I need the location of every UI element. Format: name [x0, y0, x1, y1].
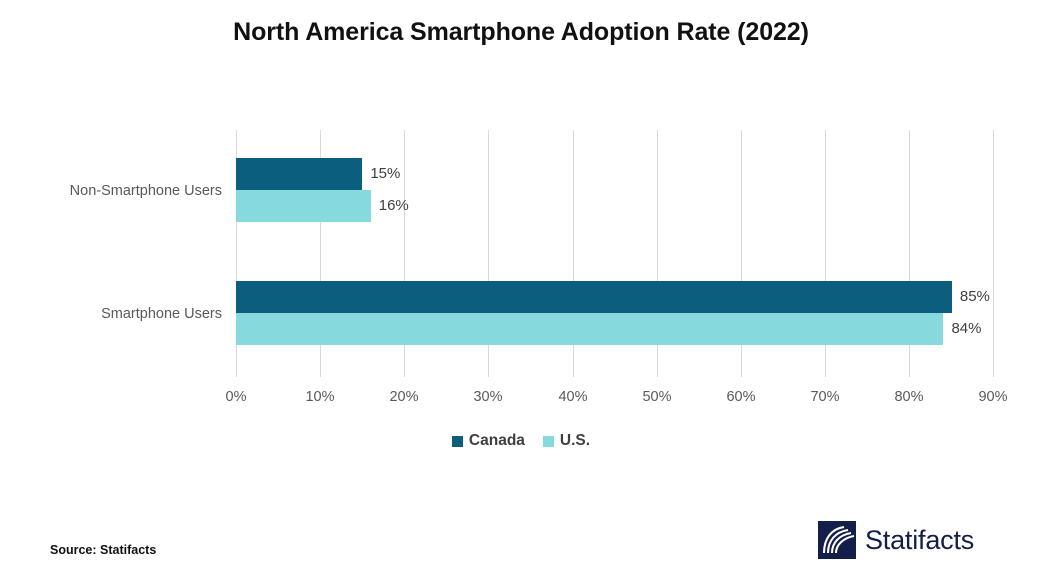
- category-label-smartphone-users: Smartphone Users: [0, 306, 222, 322]
- bar-value-us-non-smartphone-users: 16%: [379, 190, 409, 222]
- bar-value-canada-smartphone-users: 85%: [960, 281, 990, 313]
- bar-canada-smartphone-users[interactable]: [236, 281, 952, 313]
- xtick-label-30: 30%: [458, 389, 518, 405]
- xtick-label-10: 10%: [290, 389, 350, 405]
- xtick-label-20: 20%: [374, 389, 434, 405]
- legend-swatch-canada-icon: [452, 436, 463, 447]
- xtick-label-0: 0%: [206, 389, 266, 405]
- xtick-label-40: 40%: [543, 389, 603, 405]
- legend-item-us[interactable]: U.S.: [543, 432, 590, 450]
- xtick-label-70: 70%: [795, 389, 855, 405]
- bar-value-us-smartphone-users: 84%: [951, 313, 981, 345]
- xtick-label-50: 50%: [627, 389, 687, 405]
- brand-name: Statifacts: [865, 525, 974, 556]
- plot-area: 15% 16% 85% 84%: [236, 130, 994, 377]
- xtick-label-60: 60%: [711, 389, 771, 405]
- brand-logo: Statifacts: [818, 521, 974, 559]
- legend-label-us: U.S.: [560, 432, 590, 450]
- statifacts-swoosh-icon: [818, 521, 856, 559]
- gridline-90: [993, 130, 994, 377]
- bar-value-canada-non-smartphone-users: 15%: [370, 158, 400, 190]
- xtick-label-80: 80%: [879, 389, 939, 405]
- chart-legend: Canada U.S.: [0, 432, 1042, 450]
- bar-us-smartphone-users[interactable]: [236, 313, 943, 345]
- legend-swatch-us-icon: [543, 436, 554, 447]
- bar-canada-non-smartphone-users[interactable]: [236, 158, 362, 190]
- source-note: Source: Statifacts: [50, 543, 156, 557]
- chart-title: North America Smartphone Adoption Rate (…: [0, 18, 1042, 47]
- xtick-label-90: 90%: [963, 389, 1023, 405]
- legend-item-canada[interactable]: Canada: [452, 432, 525, 450]
- bar-us-non-smartphone-users[interactable]: [236, 190, 371, 222]
- legend-label-canada: Canada: [469, 432, 525, 450]
- chart-container: North America Smartphone Adoption Rate (…: [0, 0, 1042, 588]
- category-label-non-smartphone-users: Non-Smartphone Users: [0, 183, 222, 199]
